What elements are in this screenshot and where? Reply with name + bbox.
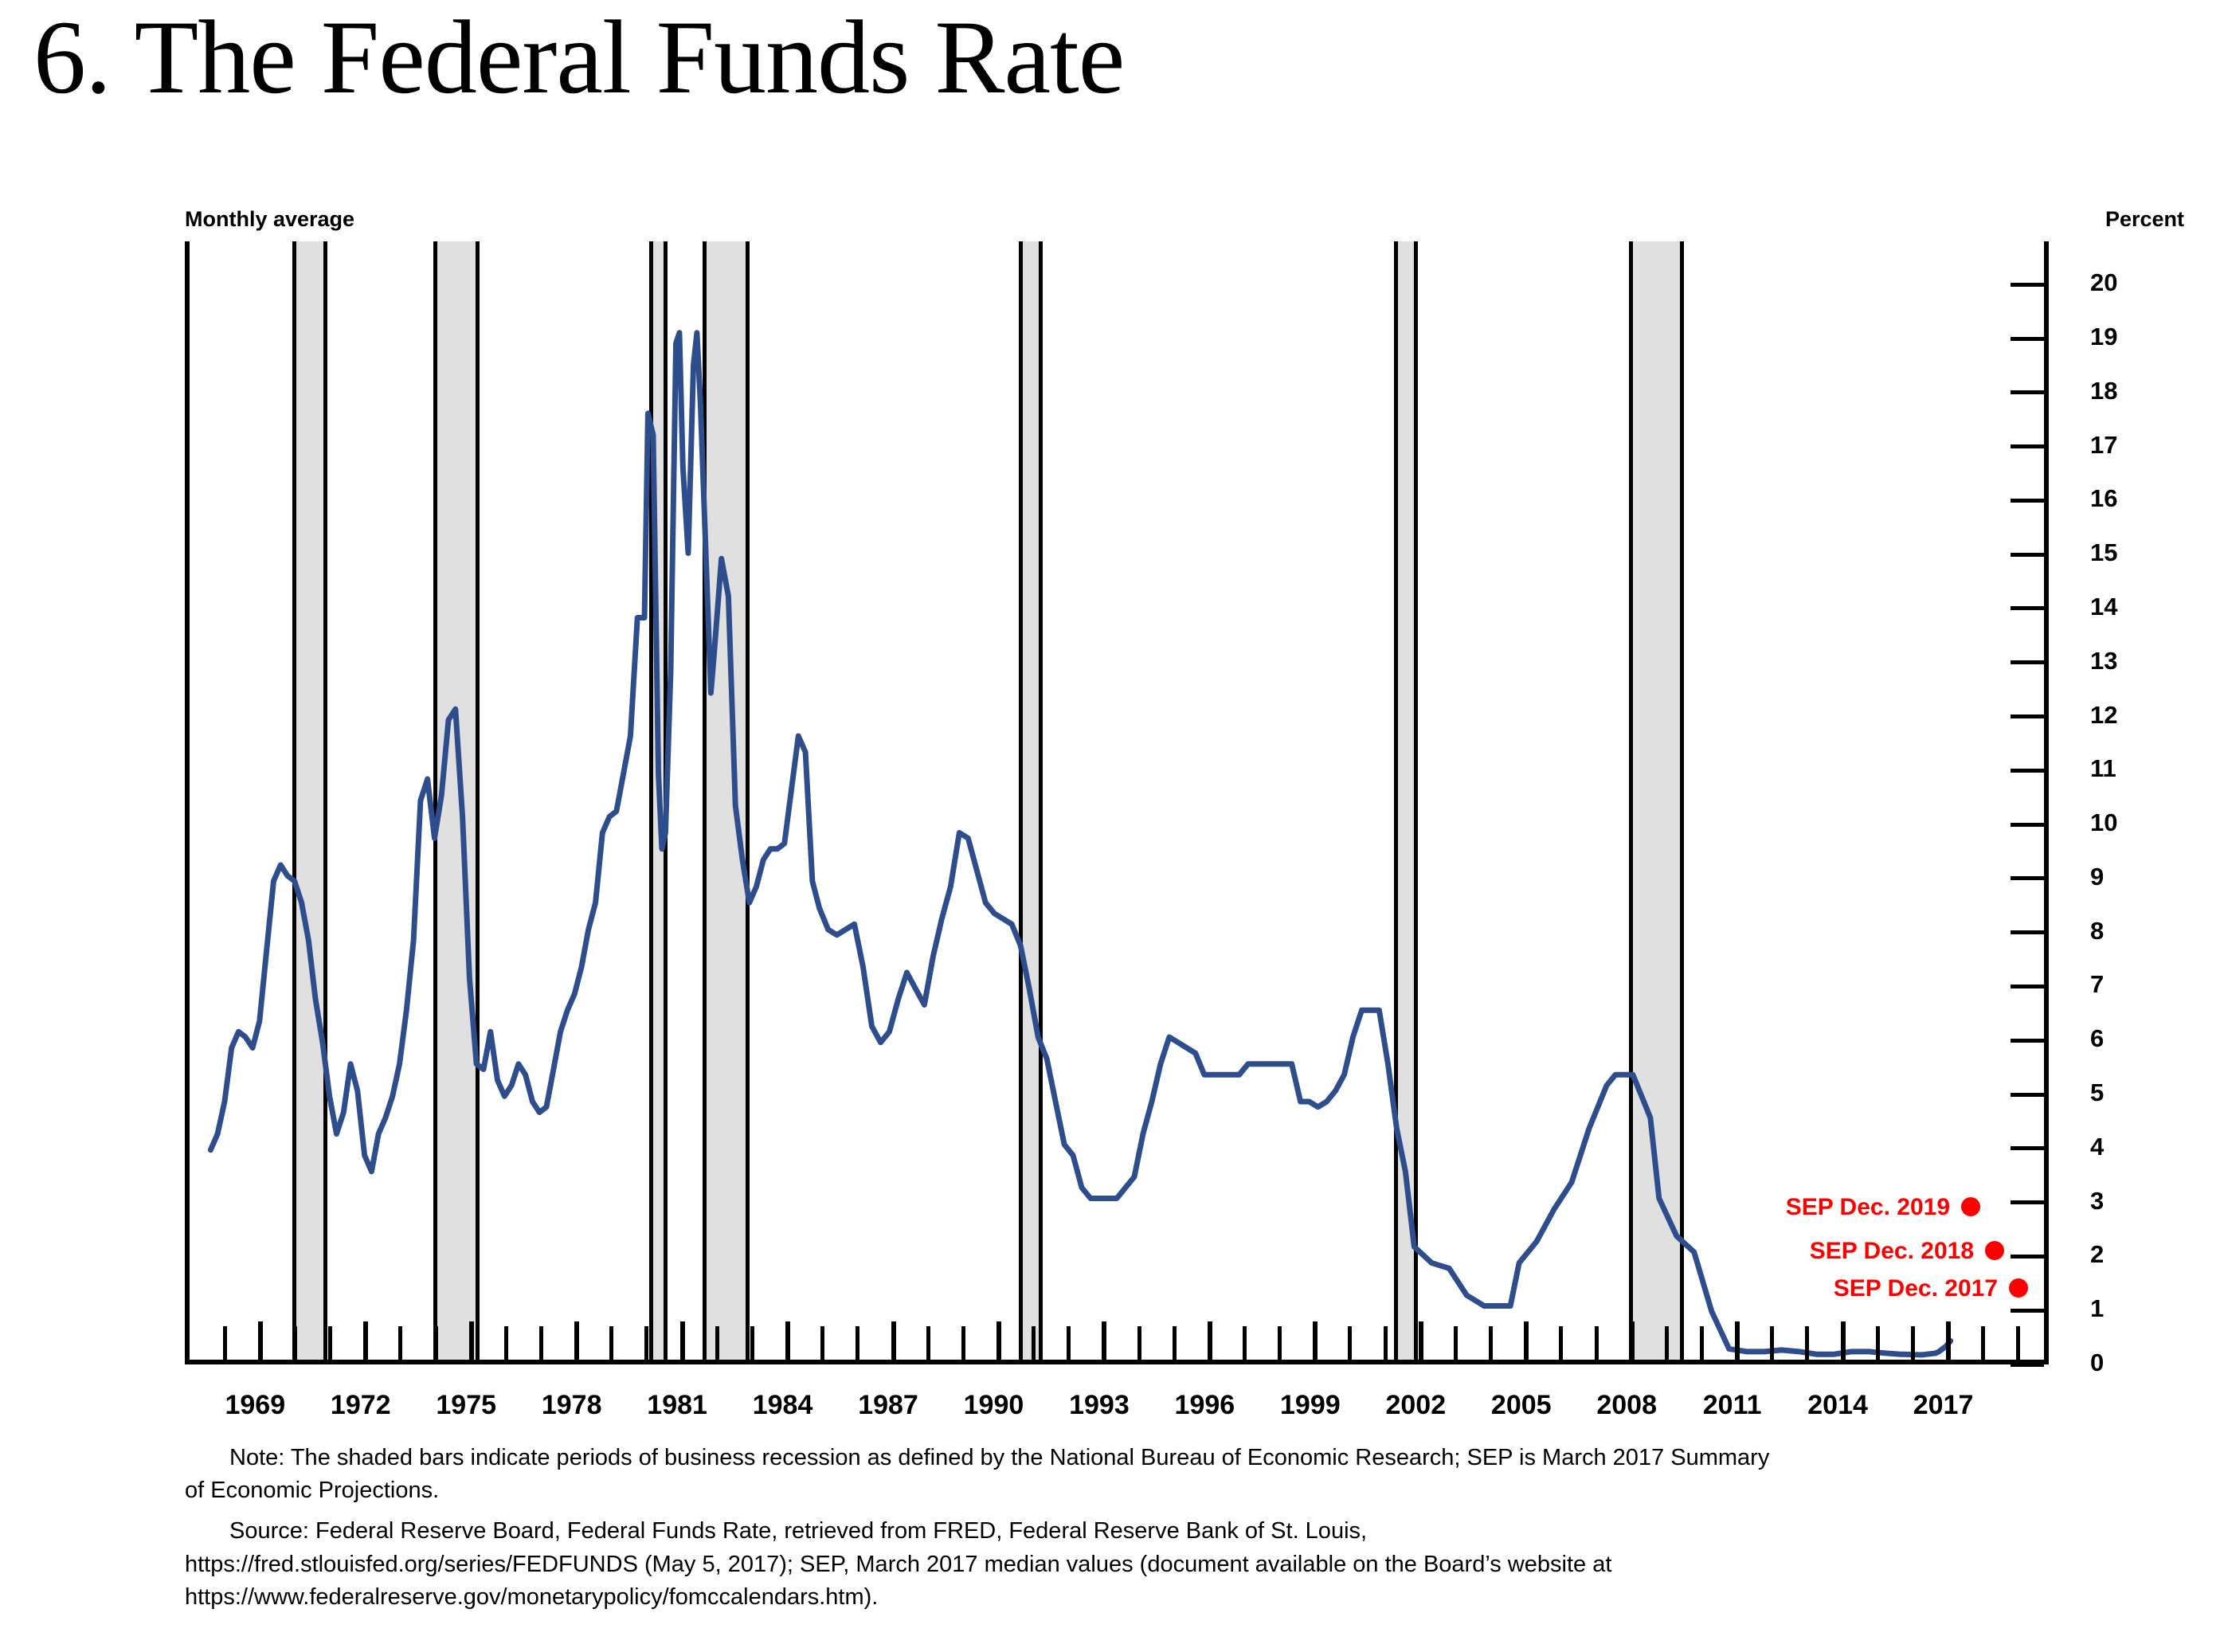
x-axis-tick-label: 1969 bbox=[225, 1390, 285, 1421]
source-line-3: https://www.federalreserve.gov/monetaryp… bbox=[185, 1581, 2192, 1614]
y-axis-tick bbox=[2011, 985, 2044, 988]
x-axis-tick-label: 2011 bbox=[1703, 1390, 1762, 1421]
x-axis-tick bbox=[2016, 1326, 2020, 1360]
plot-area: SEP Dec. 2017SEP Dec. 2018SEP Dec. 2019 bbox=[185, 241, 2049, 1364]
x-axis-tick bbox=[1278, 1326, 1282, 1360]
x-axis-tick bbox=[504, 1326, 508, 1360]
y-axis-tick-label: 18 bbox=[2090, 377, 2117, 405]
y-axis-tick-label: 2 bbox=[2090, 1240, 2104, 1269]
sep-annotation-label: SEP Dec. 2017 bbox=[1834, 1275, 1998, 1302]
y-axis-tick-label: 20 bbox=[2090, 268, 2117, 297]
x-axis-tick bbox=[363, 1321, 368, 1360]
y-axis-tick bbox=[2011, 823, 2044, 827]
x-axis-tick bbox=[1208, 1321, 1212, 1360]
y-axis-tick bbox=[2011, 499, 2044, 503]
source-line-2: https://fred.stlouisfed.org/series/FEDFU… bbox=[185, 1548, 2192, 1581]
x-axis-tick-label: 1984 bbox=[753, 1390, 813, 1421]
x-axis-tick bbox=[820, 1326, 824, 1360]
sep-annotation-row: SEP Dec. 2018 bbox=[1810, 1238, 2004, 1265]
y-axis-tick-label: 6 bbox=[2090, 1024, 2104, 1053]
y-axis-tick bbox=[2011, 337, 2044, 341]
y-axis-tick bbox=[2011, 660, 2044, 664]
x-axis-tick bbox=[1981, 1326, 1985, 1360]
figure-notes: Note: The shaded bars indicate periods o… bbox=[185, 1442, 2192, 1614]
sep-marker-dot-icon bbox=[2009, 1278, 2028, 1298]
x-axis-tick-label: 2017 bbox=[1913, 1390, 1974, 1421]
x-axis-tick-label: 1999 bbox=[1280, 1390, 1341, 1421]
x-axis-tick bbox=[1665, 1326, 1669, 1360]
y-axis-tick-label: 4 bbox=[2090, 1133, 2104, 1161]
y-axis-tick-label: 19 bbox=[2090, 323, 2117, 351]
y-axis-tick bbox=[2011, 714, 2044, 718]
y-axis-tick bbox=[2011, 444, 2044, 448]
x-axis-tick bbox=[328, 1326, 332, 1360]
y-axis-tick-label: 1 bbox=[2090, 1294, 2104, 1323]
y-axis-tick-label: 15 bbox=[2090, 538, 2117, 567]
sep-marker-dot-icon bbox=[1961, 1197, 1980, 1216]
x-axis-tick bbox=[293, 1326, 297, 1360]
x-axis-tick bbox=[223, 1326, 227, 1360]
x-axis-tick bbox=[469, 1321, 474, 1360]
y-axis-tick-label: 10 bbox=[2090, 808, 2117, 837]
sep-annotation-row: SEP Dec. 2017 bbox=[1834, 1275, 2028, 1302]
x-axis-tick bbox=[926, 1326, 930, 1360]
y-axis-tick-label: 17 bbox=[2090, 431, 2117, 460]
y-axis-tick bbox=[2011, 1255, 2044, 1259]
y-axis-tick bbox=[2011, 1200, 2044, 1204]
x-axis-tick bbox=[1032, 1326, 1036, 1360]
x-axis-tick bbox=[1876, 1326, 1880, 1360]
y-axis-tick bbox=[2011, 876, 2044, 880]
y-axis-tick bbox=[2011, 1309, 2044, 1313]
y-axis-tick bbox=[2011, 1363, 2044, 1367]
y-axis-tick bbox=[2011, 553, 2044, 557]
series-federal-funds-rate bbox=[190, 241, 2044, 1360]
x-axis-tick bbox=[1735, 1321, 1740, 1360]
y-axis-tick bbox=[2011, 769, 2044, 773]
y-axis-tick bbox=[2011, 1039, 2044, 1043]
x-axis-tick bbox=[609, 1326, 613, 1360]
x-axis-tick-label: 1978 bbox=[542, 1390, 602, 1421]
x-axis-tick bbox=[1419, 1321, 1423, 1360]
chart-top-left-caption: Monthly average bbox=[185, 207, 354, 232]
y-axis-tick bbox=[2011, 390, 2044, 394]
sep-annotation-row: SEP Dec. 2019 bbox=[1786, 1194, 1980, 1221]
x-axis-tick bbox=[680, 1321, 685, 1360]
x-axis-tick bbox=[750, 1326, 754, 1360]
sep-marker-dot-icon bbox=[1985, 1241, 2004, 1260]
x-axis-tick bbox=[1173, 1326, 1177, 1360]
x-axis-tick bbox=[1489, 1326, 1493, 1360]
x-axis-tick bbox=[1384, 1326, 1388, 1360]
x-axis-tick bbox=[258, 1321, 263, 1360]
x-axis-tick-label: 1990 bbox=[964, 1390, 1024, 1421]
x-axis-tick bbox=[398, 1326, 402, 1360]
y-axis-tick-label: 5 bbox=[2090, 1078, 2104, 1107]
x-axis-tick bbox=[1524, 1321, 1529, 1360]
x-axis-tick bbox=[1559, 1326, 1563, 1360]
x-axis-tick bbox=[1911, 1326, 1915, 1360]
page-title: 6. The Federal Funds Rate bbox=[33, 5, 1124, 110]
x-axis-tick bbox=[996, 1321, 1001, 1360]
x-axis-tick-label: 1975 bbox=[436, 1390, 496, 1421]
sep-annotation-label: SEP Dec. 2018 bbox=[1810, 1238, 1974, 1264]
x-axis-tick bbox=[1454, 1326, 1458, 1360]
x-axis-tick-label: 1987 bbox=[858, 1390, 918, 1421]
x-axis-tick bbox=[574, 1321, 579, 1360]
note-line-1: Note: The shaded bars indicate periods o… bbox=[185, 1442, 2192, 1474]
y-axis-tick-label: 7 bbox=[2090, 970, 2104, 999]
sep-annotation-label: SEP Dec. 2019 bbox=[1786, 1194, 1950, 1220]
slide-root: 6. The Federal Funds Rate Monthly averag… bbox=[0, 0, 2224, 1652]
y-axis-tick bbox=[2011, 283, 2044, 287]
x-axis-tick bbox=[1067, 1326, 1071, 1360]
figure-container: Monthly average Percent SEP Dec. 2017SEP… bbox=[0, 215, 2224, 1649]
chart-top-right-caption: Percent bbox=[2105, 207, 2184, 232]
x-axis-tick bbox=[1102, 1321, 1106, 1360]
x-axis-tick bbox=[1805, 1326, 1809, 1360]
x-axis-tick bbox=[1946, 1321, 1951, 1360]
x-axis-tick-label: 1981 bbox=[647, 1390, 707, 1421]
x-axis-tick-label: 1972 bbox=[331, 1390, 391, 1421]
y-axis-tick bbox=[2011, 930, 2044, 934]
y-axis-tick-label: 3 bbox=[2090, 1187, 2104, 1216]
x-axis-tick-label: 2002 bbox=[1385, 1390, 1446, 1421]
x-axis-tick bbox=[1348, 1326, 1352, 1360]
source-line-1: Source: Federal Reserve Board, Federal F… bbox=[185, 1515, 2192, 1548]
x-axis-tick-label: 2008 bbox=[1596, 1390, 1657, 1421]
x-axis-tick bbox=[1595, 1326, 1599, 1360]
note-line-2: of Economic Projections. bbox=[185, 1474, 2192, 1507]
x-axis-tick bbox=[1630, 1321, 1635, 1360]
x-axis-tick bbox=[1841, 1321, 1846, 1360]
y-axis-tick-label: 9 bbox=[2090, 863, 2104, 891]
y-axis-tick bbox=[2011, 1093, 2044, 1097]
x-axis-tick bbox=[891, 1321, 896, 1360]
x-axis-tick bbox=[1137, 1326, 1141, 1360]
x-axis-tick bbox=[785, 1321, 790, 1360]
y-axis-tick-label: 14 bbox=[2090, 593, 2117, 621]
y-axis-tick-label: 8 bbox=[2090, 917, 2104, 945]
x-axis-tick bbox=[1700, 1326, 1704, 1360]
x-axis-tick bbox=[1313, 1321, 1318, 1360]
x-axis-tick bbox=[1770, 1326, 1774, 1360]
y-axis-tick-label: 0 bbox=[2090, 1349, 2104, 1377]
x-axis-tick-label: 1996 bbox=[1175, 1390, 1235, 1421]
x-axis-tick-label: 1993 bbox=[1069, 1390, 1130, 1421]
x-axis-tick-label: 2005 bbox=[1491, 1390, 1552, 1421]
y-axis-tick-label: 11 bbox=[2090, 754, 2116, 783]
y-axis-tick-label: 13 bbox=[2090, 647, 2117, 675]
x-axis-tick bbox=[856, 1326, 859, 1360]
y-axis-tick bbox=[2011, 606, 2044, 610]
x-axis-tick bbox=[539, 1326, 543, 1360]
x-axis-tick bbox=[715, 1326, 719, 1360]
y-axis-tick-label: 16 bbox=[2090, 484, 2117, 513]
x-axis-tick bbox=[961, 1326, 965, 1360]
x-axis-tick bbox=[1243, 1326, 1247, 1360]
y-axis-tick bbox=[2011, 1146, 2044, 1150]
x-axis-tick bbox=[434, 1326, 438, 1360]
x-axis-tick bbox=[644, 1326, 648, 1360]
y-axis-tick-label: 12 bbox=[2090, 701, 2117, 730]
x-axis-tick-label: 2014 bbox=[1807, 1390, 1868, 1421]
